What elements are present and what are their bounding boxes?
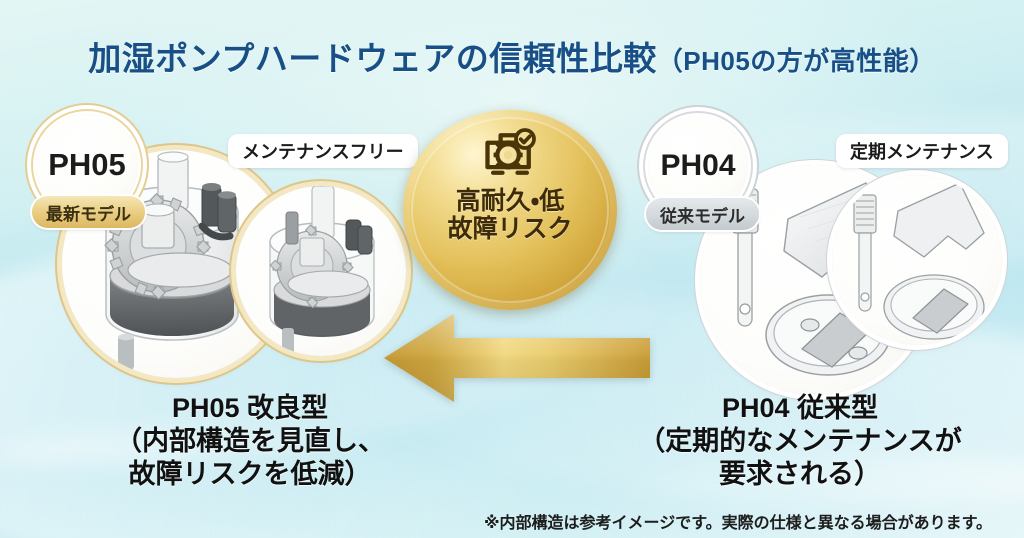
- medallion-line-2: 故障リスク: [447, 215, 572, 243]
- ph05-caption-line-2: （内部構造を見直し、: [40, 425, 460, 458]
- ph04-caption-line-2: （定期的なメンテナンスが: [590, 425, 1010, 458]
- page-title-main: 加湿ポンプハードウェアの信頼性比較: [88, 40, 657, 77]
- durability-medallion: 高耐久・低 故障リスク: [403, 110, 617, 310]
- ph05-caption-line-1: PH05 改良型: [40, 392, 460, 425]
- medallion-line-1: 高耐久・低: [447, 187, 572, 215]
- ph05-caption-line-3: 故障リスクを低減）: [40, 458, 460, 491]
- tag-maintenance-free: メンテナンスフリー: [228, 134, 418, 168]
- ph04-caption-line-1: PH04 従来型: [590, 392, 1010, 425]
- machine-check-icon: [479, 124, 541, 184]
- tag-legacy-model: 従来モデル: [646, 198, 759, 230]
- ph04-caption: PH04 従来型 （定期的なメンテナンスが 要求される）: [590, 392, 1010, 491]
- ph05-caption: PH05 改良型 （内部構造を見直し、 故障リスクを低減）: [40, 392, 460, 491]
- footnote-disclaimer: ※内部構造は参考イメージです。実際の仕様と異なる場合があります。: [452, 509, 1024, 533]
- tag-newest-model: 最新モデル: [32, 196, 145, 228]
- medallion-text: 高耐久・低 故障リスク: [447, 187, 572, 243]
- maintenance-detail-icon: [832, 175, 1002, 345]
- ph04-detail-circle: [832, 175, 1002, 345]
- ph04-caption-line-3: 要求される）: [590, 458, 1010, 491]
- tag-regular-maintenance: 定期メンテナンス: [836, 134, 1008, 168]
- infographic-canvas: 加湿ポンプハードウェアの信頼性比較（PH05の方が高性能）: [0, 0, 1024, 538]
- page-title-sub: （PH05の方が高性能）: [657, 46, 936, 76]
- page-title: 加湿ポンプハードウェアの信頼性比較（PH05の方が高性能）: [0, 32, 1024, 80]
